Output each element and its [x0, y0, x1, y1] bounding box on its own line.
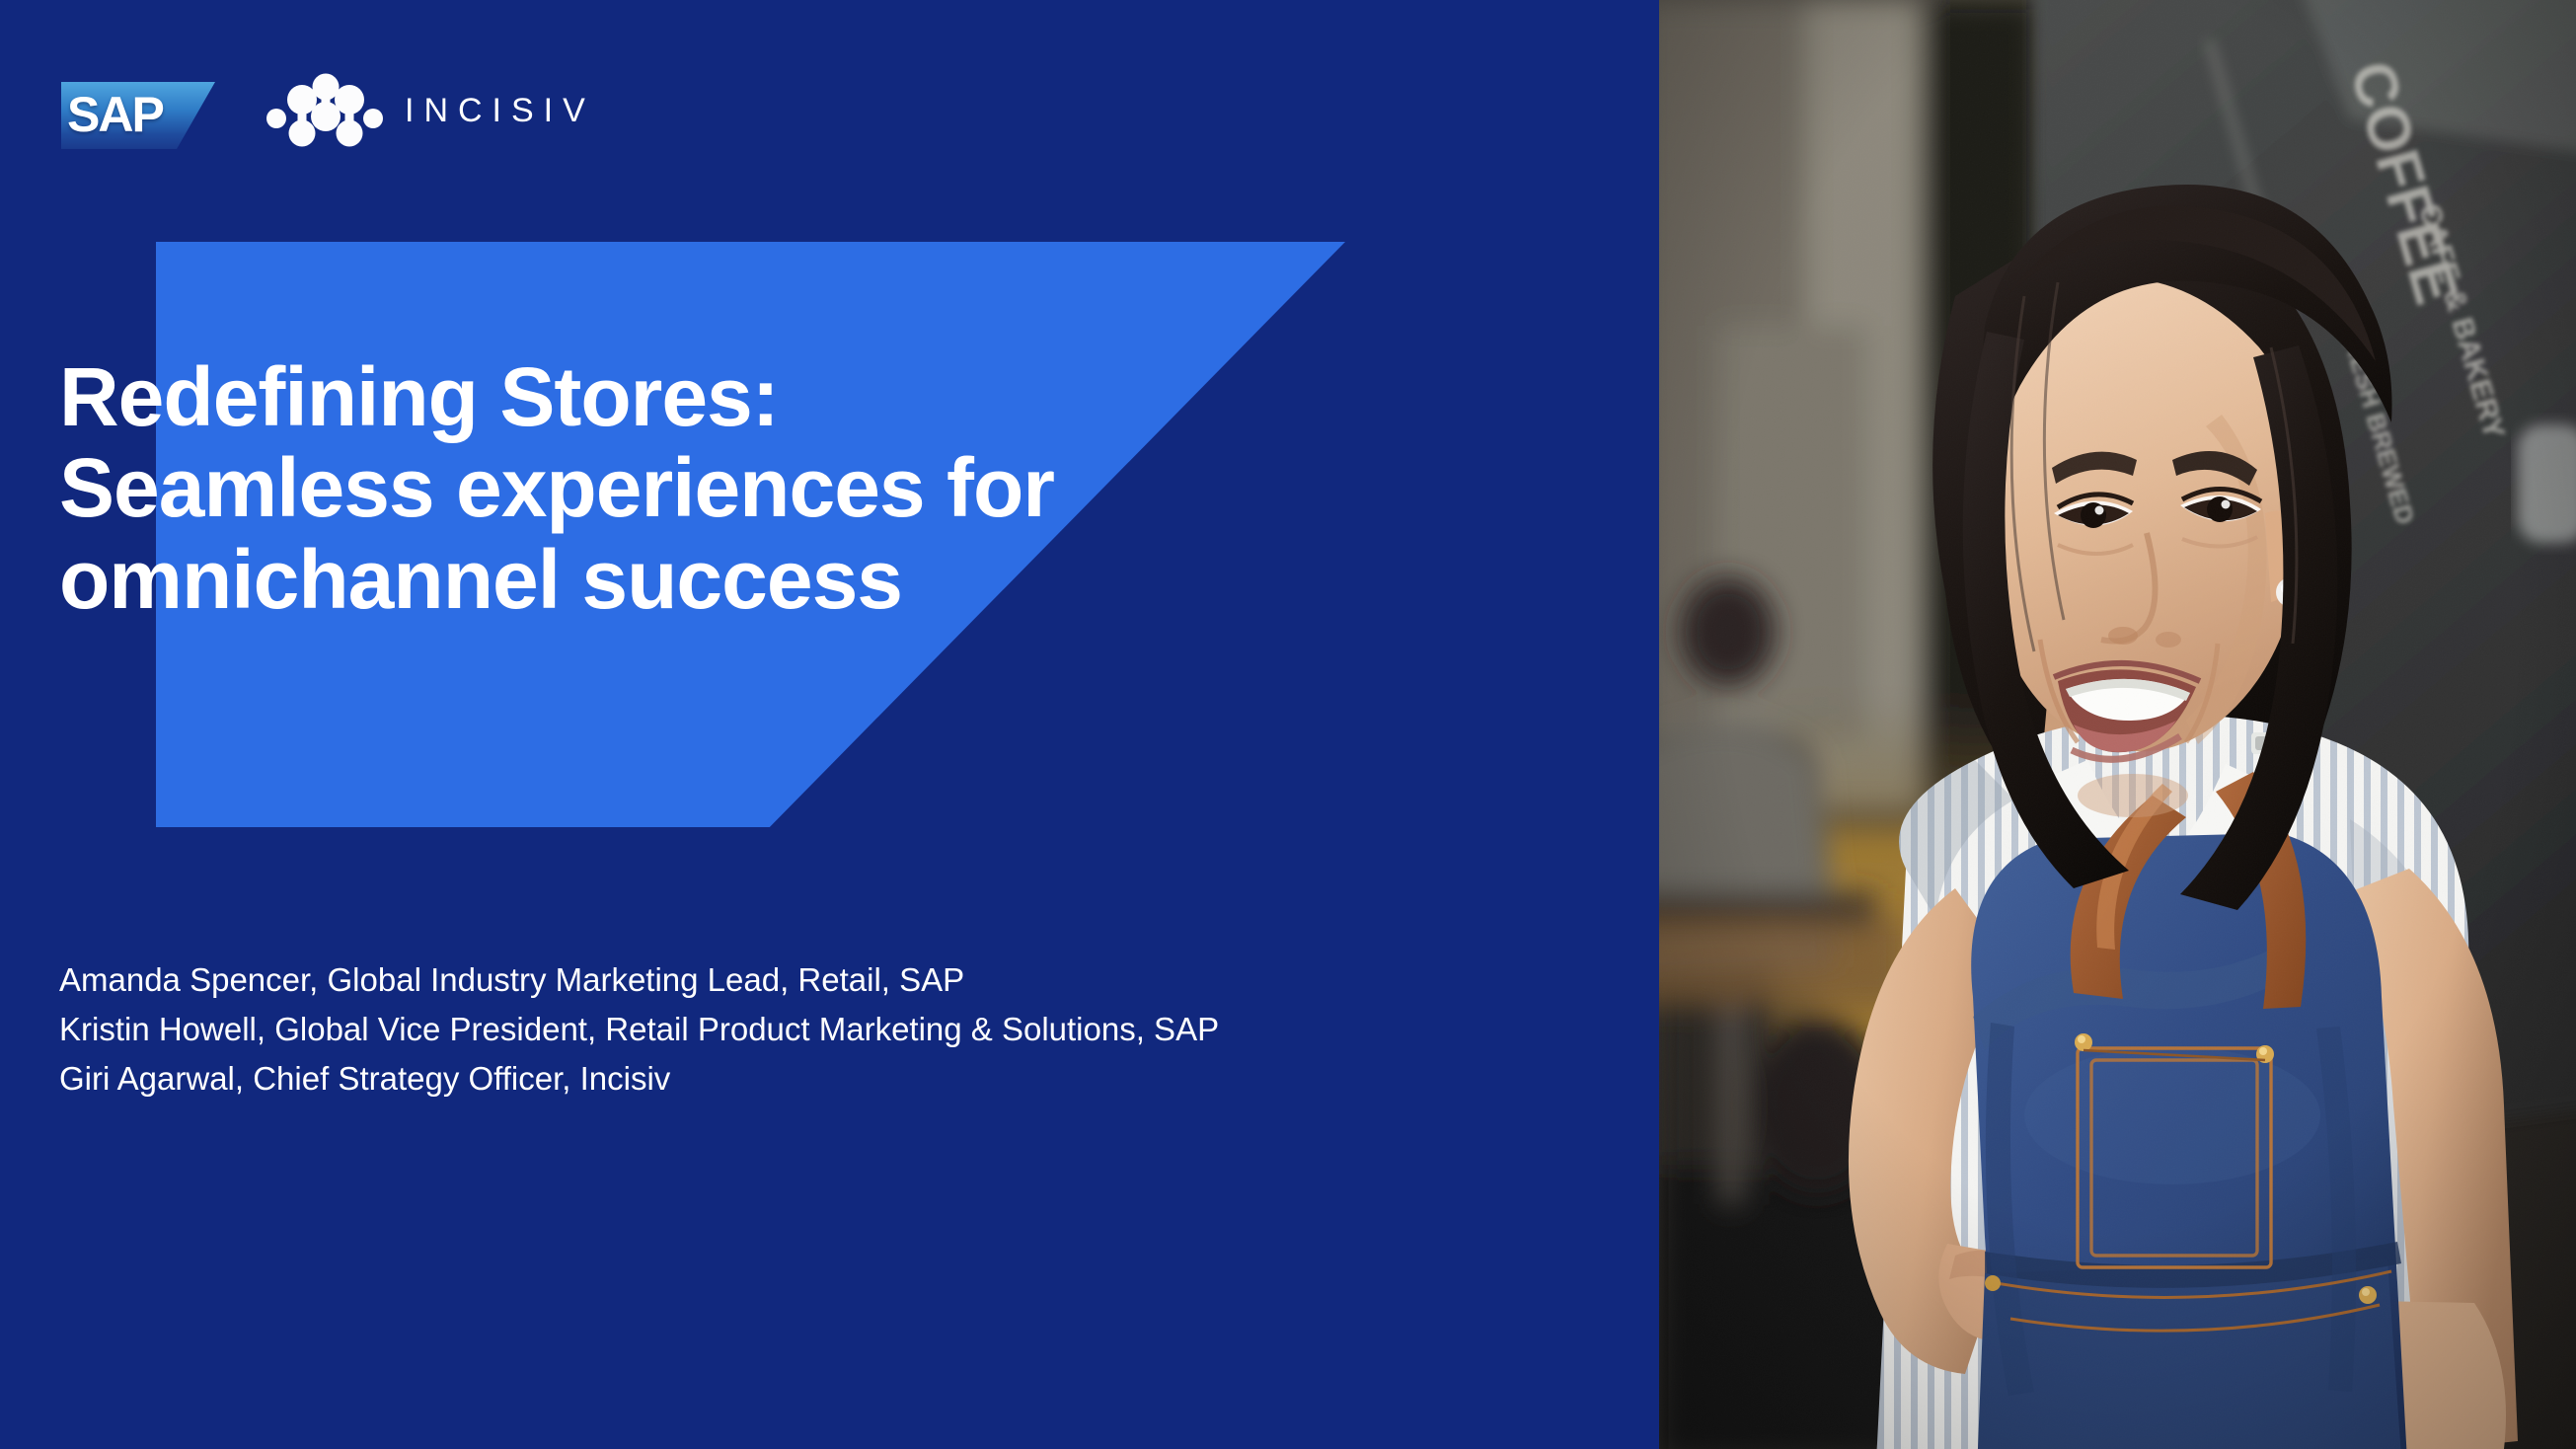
- presentation-slide: SAP: [0, 0, 2576, 1449]
- title-line-3: omnichannel success: [59, 534, 1332, 625]
- sap-wordmark: SAP: [67, 90, 163, 139]
- slide-left-panel: SAP: [0, 0, 1659, 1449]
- title-line-2: Seamless experiences for: [59, 442, 1332, 533]
- incisiv-molecule-icon: [266, 72, 383, 149]
- slide-title: Redefining Stores: Seamless experiences …: [59, 351, 1332, 625]
- presenter-list: Amanda Spencer, Global Industry Marketin…: [59, 955, 1540, 1104]
- barista-photo: COFFEE CAFE & BAKERY FRESH BREWED: [1659, 0, 2576, 1449]
- presenter-line-3: Giri Agarwal, Chief Strategy Officer, In…: [59, 1054, 1540, 1104]
- presenter-line-1: Amanda Spencer, Global Industry Marketin…: [59, 955, 1540, 1005]
- logo-row: SAP: [61, 67, 595, 154]
- title-line-1: Redefining Stores:: [59, 351, 1332, 442]
- sap-logo: SAP: [61, 82, 215, 149]
- incisiv-wordmark: INCISIV: [405, 94, 595, 127]
- presenter-line-2: Kristin Howell, Global Vice President, R…: [59, 1005, 1540, 1054]
- incisiv-logo: INCISIV: [266, 67, 595, 154]
